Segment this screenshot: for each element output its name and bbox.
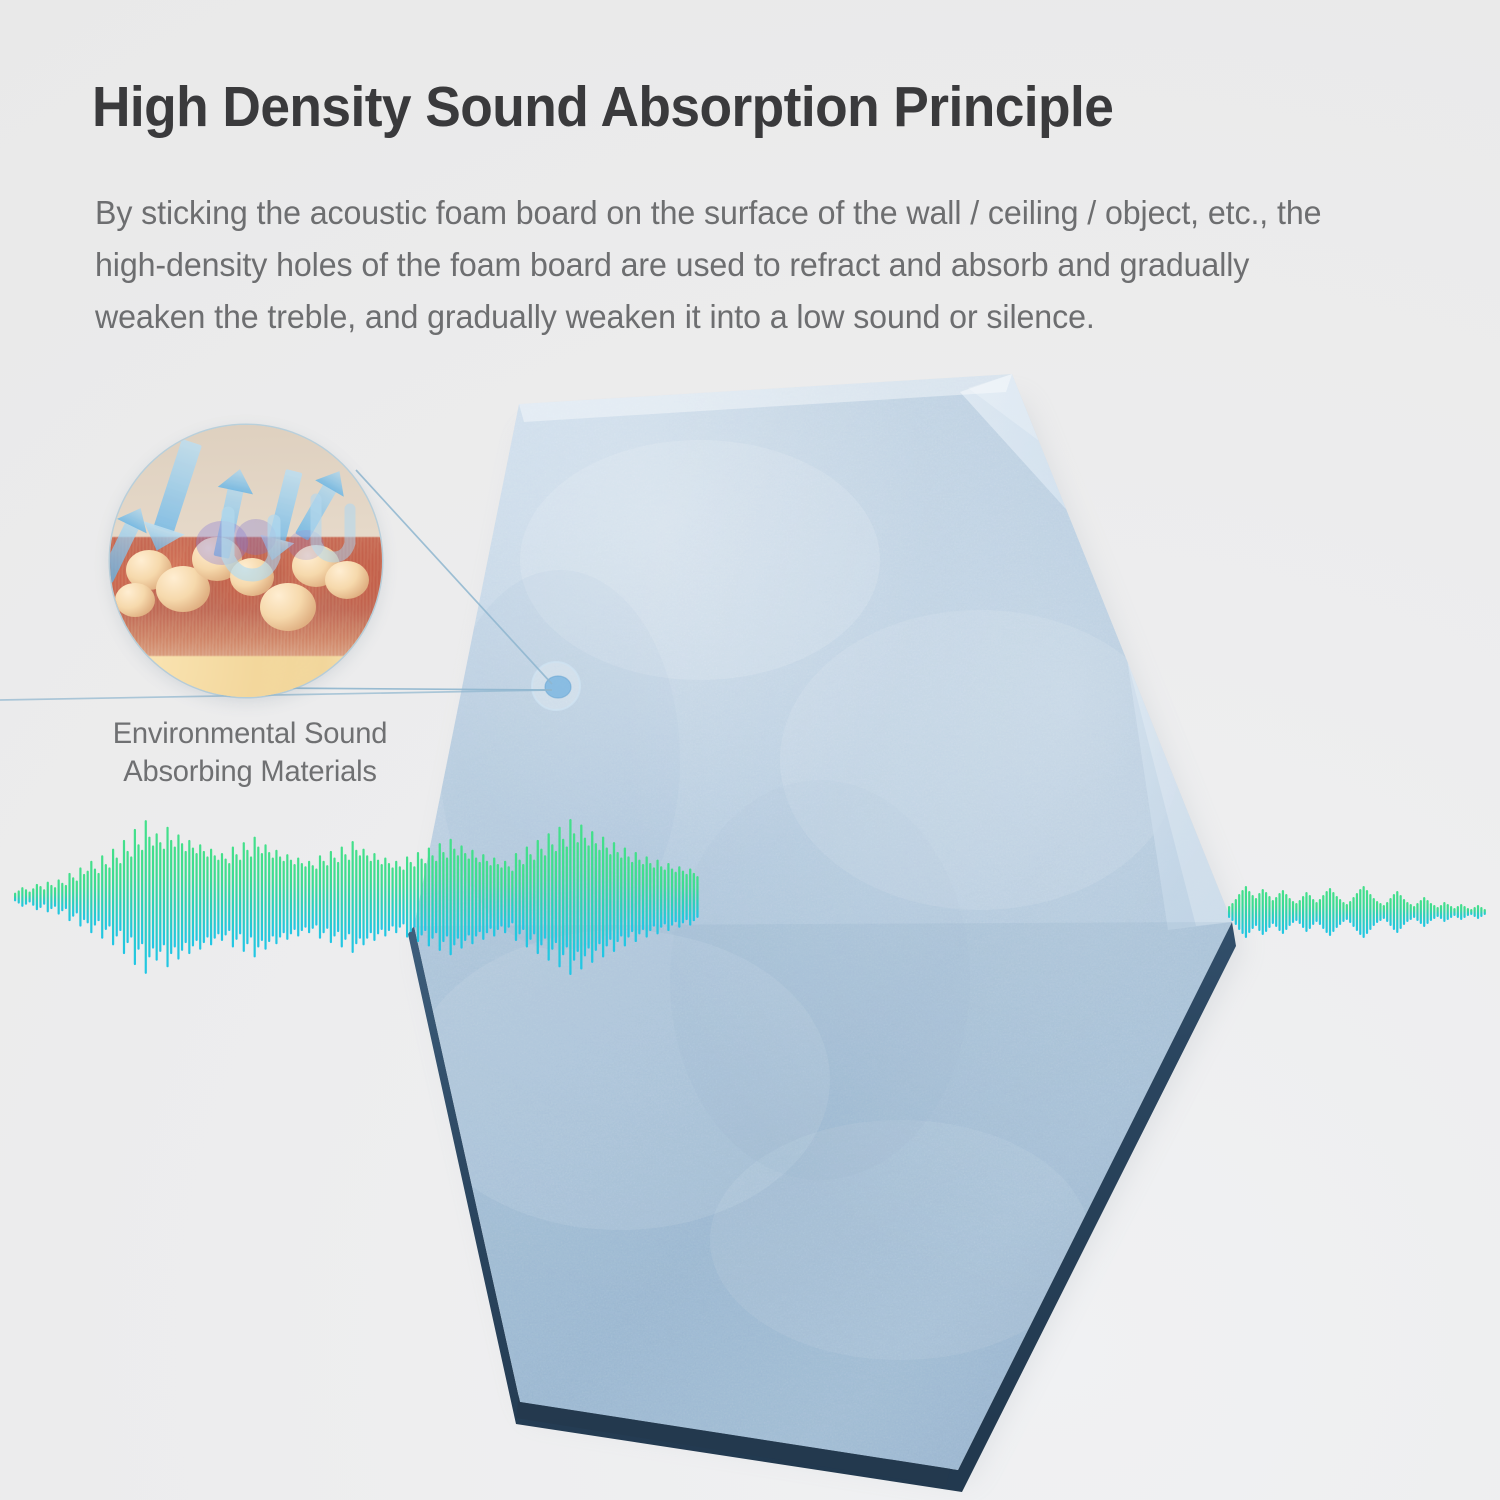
inset-caption: Environmental Sound Absorbing Materials — [66, 715, 435, 791]
panel-face — [400, 360, 1250, 1490]
inset-sound-arrows — [110, 425, 382, 697]
page-title: High Density Sound Absorption Principle — [92, 78, 1336, 138]
callout-marker[interactable] — [532, 662, 580, 710]
infographic-canvas: Environmental Sound Absorbing Materials … — [0, 0, 1500, 1500]
material-magnifier-inset — [110, 425, 382, 697]
page-description: By sticking the acoustic foam board on t… — [95, 188, 1357, 344]
inset-caption-line2: Absorbing Materials — [66, 753, 435, 791]
reflected-arrow-1 — [110, 501, 155, 587]
inset-caption-line1: Environmental Sound — [66, 715, 435, 753]
